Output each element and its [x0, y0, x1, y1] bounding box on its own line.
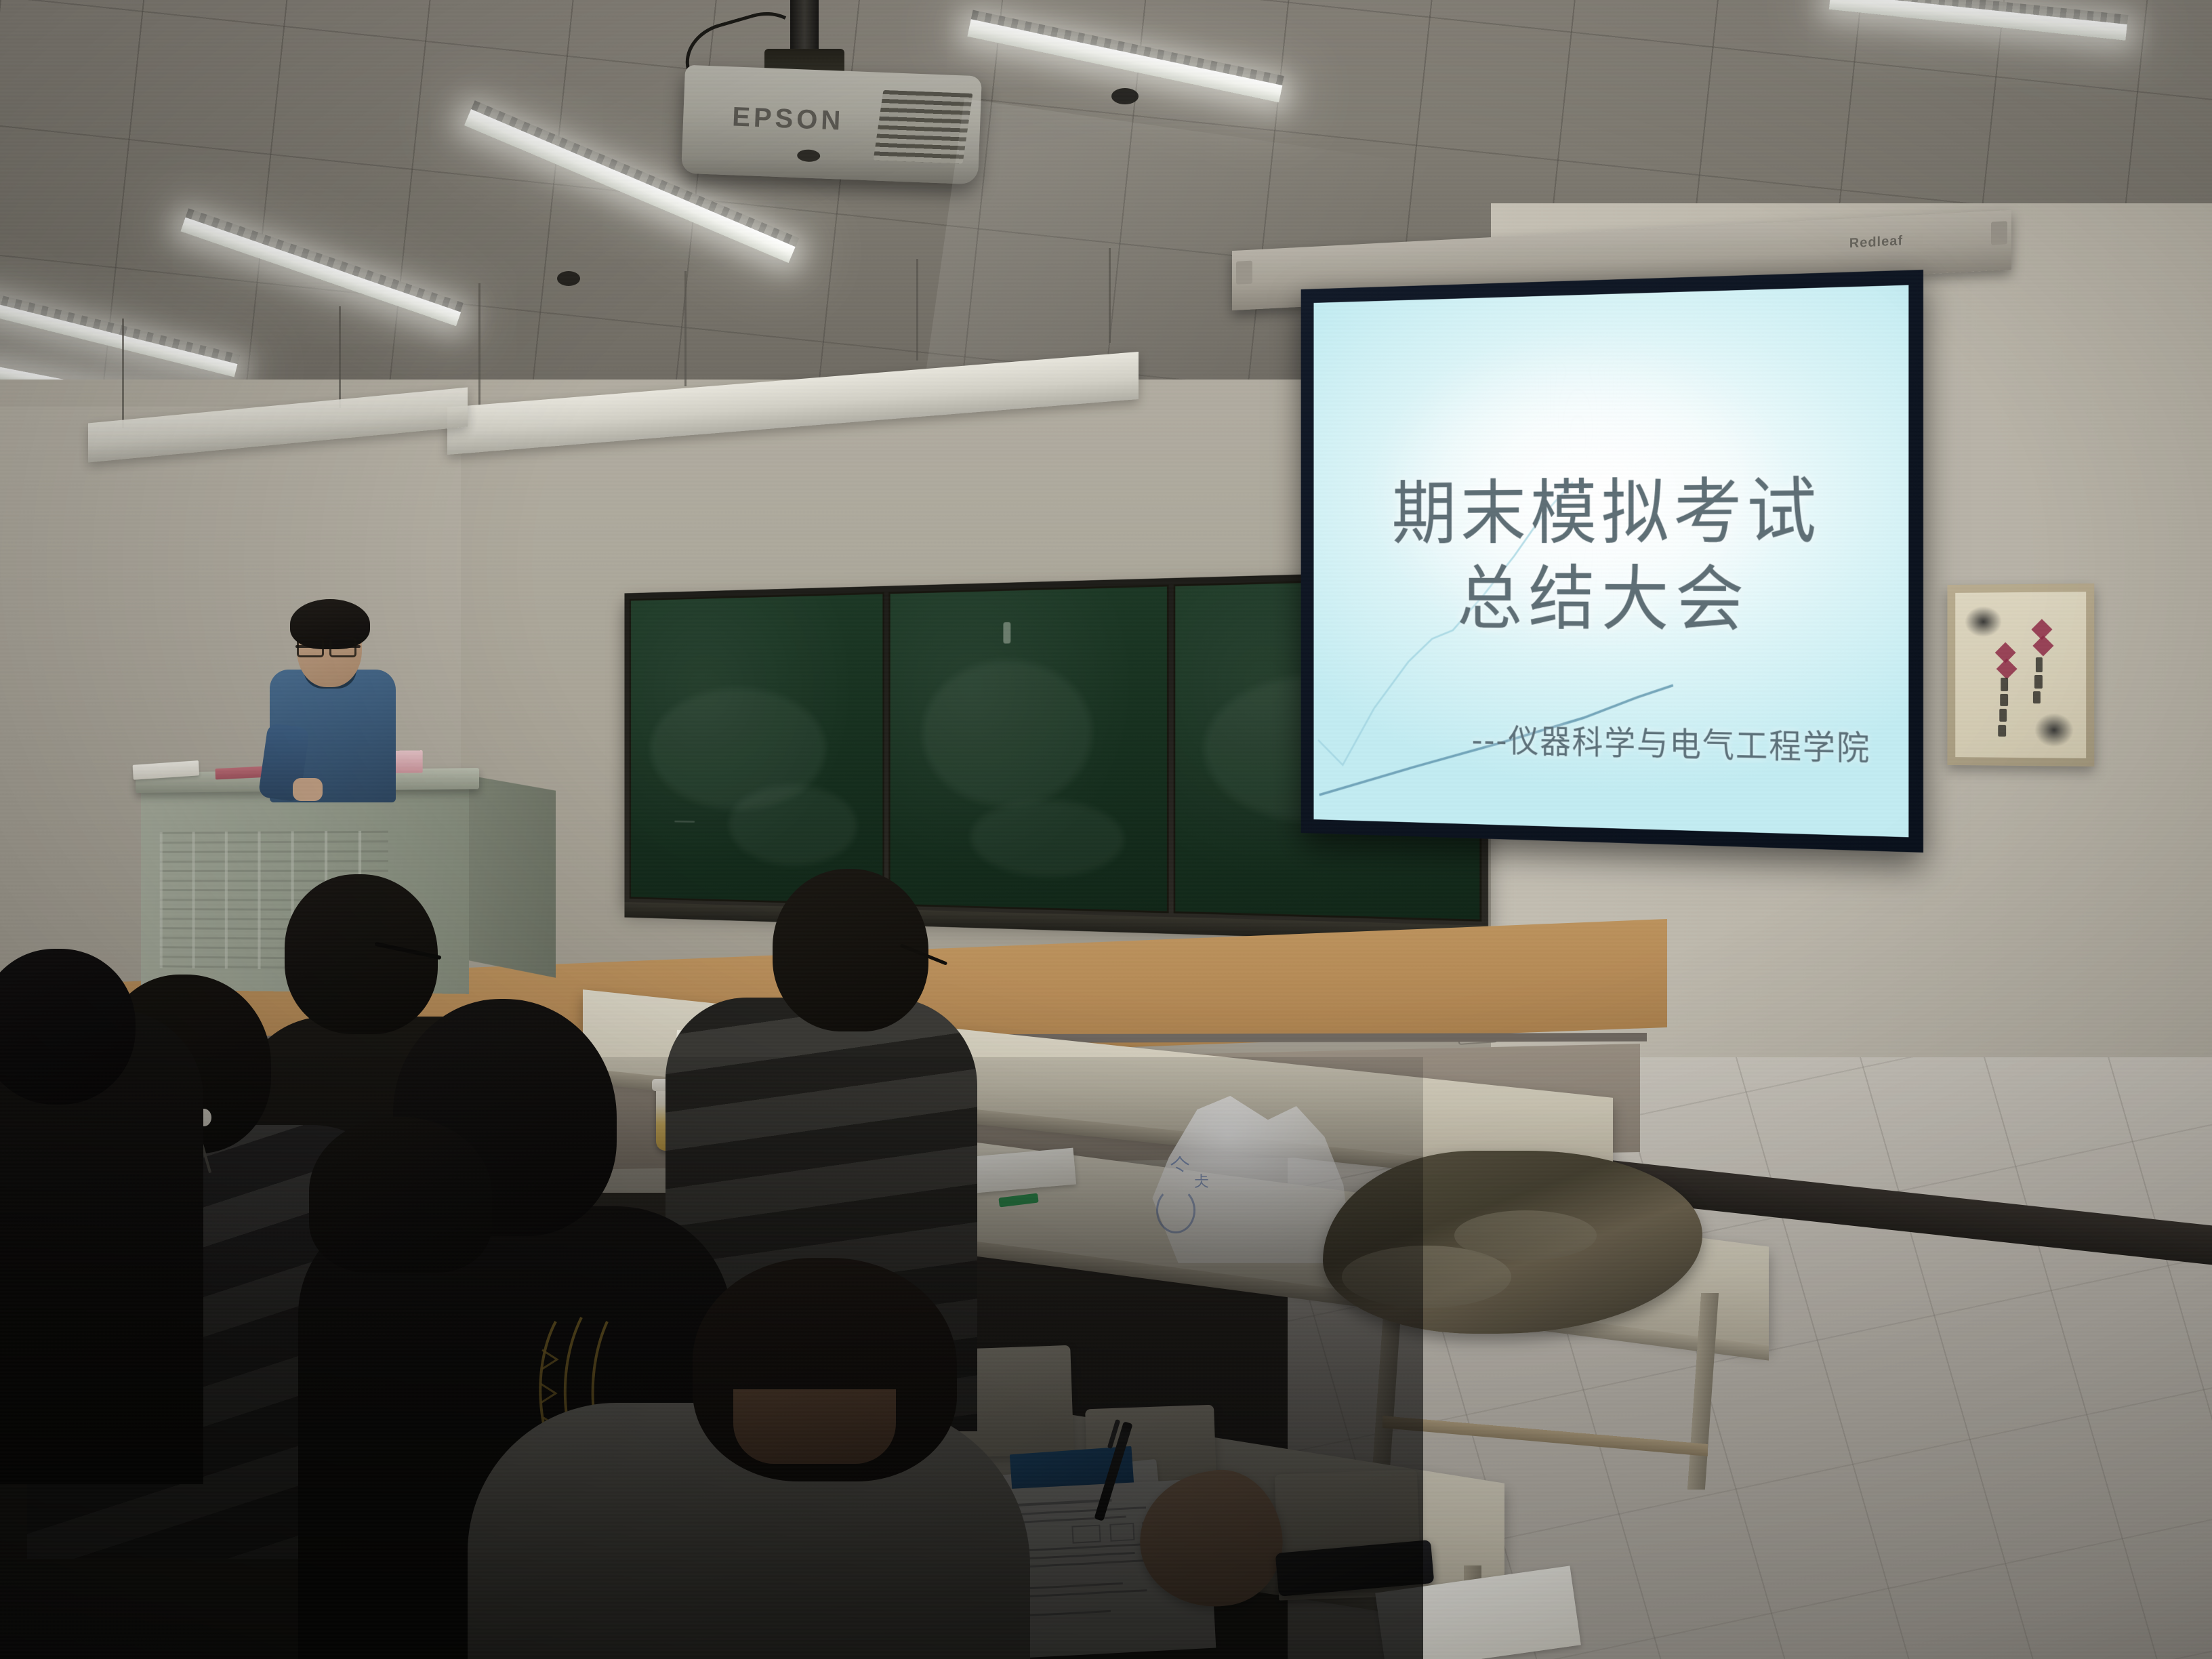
ink-brush-mark: [2034, 713, 2074, 747]
projected-slide: 期末模拟考试 总结大会 ---仪器科学与电气工程学院: [1314, 285, 1909, 838]
light-suspension-rod: [339, 306, 341, 408]
ceiling-speaker-icon: [1111, 88, 1139, 104]
presenter-glasses-lens: [329, 637, 356, 657]
student-neck: [733, 1389, 896, 1464]
presenter-hand: [293, 778, 323, 801]
blackboard-panel: [888, 585, 1168, 914]
projector-brand-label: EPSON: [731, 102, 844, 136]
plastic-bag-print: 仧: [1194, 1170, 1209, 1191]
chalk-stub-icon: [1004, 622, 1011, 644]
smoke-detector-icon: [557, 271, 580, 286]
red-seal-icon: [2032, 635, 2053, 656]
light-suspension-rod: [478, 283, 480, 411]
projector-lens-icon: [797, 149, 821, 162]
plastic-bag-smiley-icon: [1156, 1187, 1195, 1233]
plastic-bag-print: 亽: [1170, 1149, 1190, 1179]
light-suspension-rod: [122, 319, 124, 428]
ink-brush-mark: [1965, 606, 2002, 637]
screen-housing-end-cap: [1991, 221, 2007, 245]
jacket-fold: [1454, 1210, 1597, 1261]
presenter-glasses-lens: [297, 637, 324, 657]
slide-title-line-2: 总结大会: [1314, 556, 1909, 646]
projection-screen: 期末模拟考试 总结大会 ---仪器科学与电气工程学院: [1301, 270, 1923, 853]
ceiling-projector[interactable]: EPSON: [681, 65, 982, 185]
framed-artwork: [1947, 583, 2094, 766]
screen-housing-end-cap: [1236, 261, 1252, 285]
podium-side-panel: [469, 775, 556, 978]
projector-vent: [874, 90, 973, 164]
blackboard-panel: [630, 592, 884, 905]
student-head: [773, 869, 928, 1031]
screen-brand-label: Redleaf: [1849, 233, 1903, 251]
light-suspension-rod: [1109, 248, 1111, 343]
artwork-canvas: [1955, 592, 2086, 758]
light-suspension-rod: [916, 259, 918, 361]
slide-title: 期末模拟考试 总结大会: [1314, 467, 1909, 645]
slide-title-line-1: 期末模拟考试: [1392, 470, 1821, 554]
light-suspension-rod: [684, 271, 687, 386]
classroom-photo: EPSON: [0, 0, 2212, 1659]
red-seal-icon: [1996, 658, 2018, 679]
student-head: [309, 1117, 492, 1273]
slide-subtitle: ---仪器科学与电气工程学院: [1472, 714, 1871, 770]
